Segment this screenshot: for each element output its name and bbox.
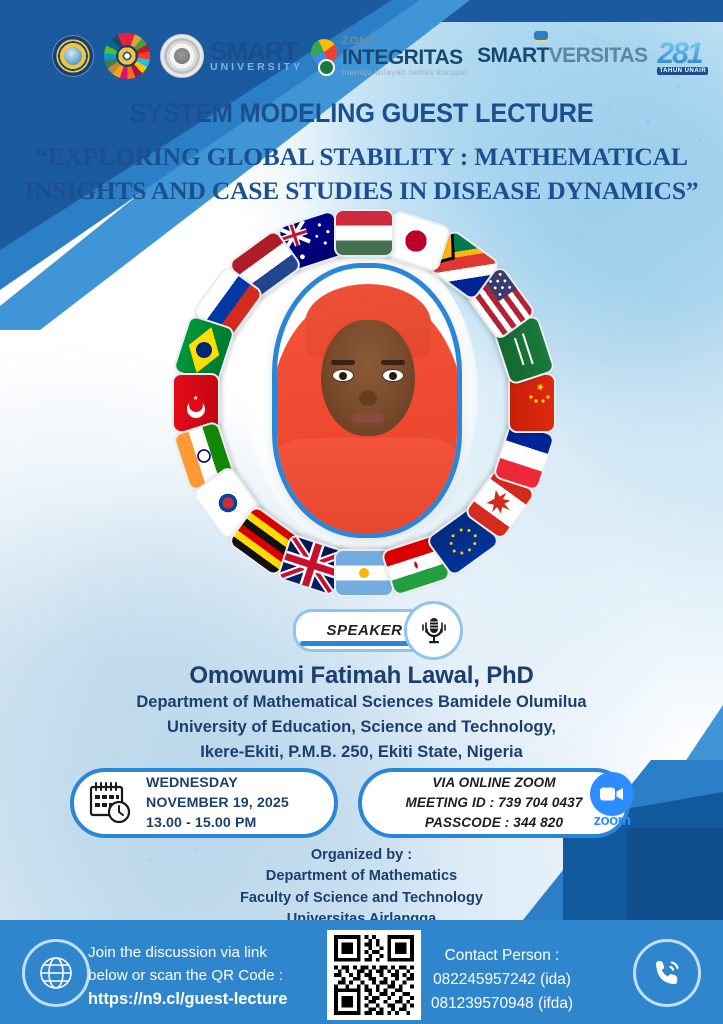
unair-seal-icon [52, 35, 94, 77]
zoom-camera-icon [590, 772, 634, 816]
microphone-icon [404, 601, 463, 660]
organizer-label: Organized by : [0, 845, 723, 866]
organizer-block: Organized by : Department of Mathematics… [0, 845, 723, 930]
join-instructions: Join the discussion via link below or sc… [88, 942, 287, 1012]
smartversitas-logo: SMARTVERSITAS [477, 44, 647, 68]
contact-label: Contact Person : [377, 944, 627, 968]
join-line-1: Join the discussion via link [88, 942, 287, 965]
flag-chair-ring [168, 205, 556, 593]
calendar-clock-icon [88, 780, 134, 826]
meeting-id: MEETING ID : 739 704 0437 [405, 793, 582, 813]
speaker-portrait-illustration [277, 268, 457, 533]
zoom-logo: zoom [582, 772, 642, 834]
zona-integritas-main: INTEGRITAS [342, 47, 467, 68]
unair-grey-seal-icon [160, 34, 204, 78]
poster-root: SMART UNIVERSITY ZONA INTEGRITAS menuju … [0, 0, 723, 1024]
affiliation-line-3: Ikere-Ekiti, P.M.B. 250, Ekiti State, Ni… [0, 740, 723, 765]
organizer-line-2: Faculty of Science and Technology [0, 888, 723, 909]
organizer-line-1: Department of Mathematics [0, 866, 723, 887]
online-meeting-text: VIA ONLINE ZOOM MEETING ID : 739 704 043… [405, 773, 582, 832]
schedule-date: NOVEMBER 19, 2025 [146, 793, 289, 813]
anniversary-sublabel: TAHUN UNAIR [657, 67, 708, 75]
flag-chair-hungary [334, 209, 394, 257]
zoom-label: zoom [582, 812, 642, 829]
subtitle-line-2: INSIGHTS AND CASE STUDIES IN DISEASE DYN… [0, 174, 723, 208]
speaker-affiliation: Department of Mathematical Sciences Bami… [0, 690, 723, 765]
smartversitas-label-b: VERSITAS [549, 44, 648, 67]
meeting-passcode: PASSCODE : 344 820 [405, 813, 582, 833]
schedule-time: 13.00 - 15.00 PM [146, 813, 289, 833]
page-subtitle: “EXPLORING GLOBAL STABILITY : MATHEMATIC… [0, 140, 723, 208]
contact-phone-1: 082245957242 (ida) [377, 968, 627, 992]
anniversary-281-logo: 281 TAHUN UNAIR [657, 37, 708, 75]
registration-link[interactable]: https://n9.cl/guest-lecture [88, 990, 287, 1008]
footer-bar: Join the discussion via link below or sc… [0, 920, 723, 1024]
join-line-2: below or scan the QR Code : [88, 965, 287, 988]
contact-phone-2: 081239570948 (ifda) [377, 992, 627, 1016]
zona-integritas-logo: ZONA INTEGRITAS menuju wilayah bebas kor… [311, 36, 467, 77]
schedule-text: WEDNESDAY NOVEMBER 19, 2025 13.00 - 15.0… [146, 773, 289, 833]
sdg-wheel-icon [104, 33, 150, 79]
schedule-card: WEDNESDAY NOVEMBER 19, 2025 13.00 - 15.0… [70, 768, 338, 838]
smart-university-sublabel: UNIVERSITY [210, 63, 303, 72]
anniversary-number: 281 [657, 37, 701, 70]
speaker-badge-label: SPEAKER [326, 622, 402, 639]
subtitle-line-1: “EXPLORING GLOBAL STABILITY : MATHEMATIC… [0, 140, 723, 174]
logo-bar: SMART UNIVERSITY ZONA INTEGRITAS menuju … [0, 24, 723, 88]
affiliation-line-2: University of Education, Science and Tec… [0, 715, 723, 740]
phone-call-icon [633, 939, 701, 1007]
speaker-name: Omowumi Fatimah Lawal, PhD [0, 662, 723, 690]
zona-integritas-tagline: menuju wilayah bebas korupsi [342, 68, 467, 77]
crown-icon [531, 29, 551, 42]
smart-university-logo: SMART UNIVERSITY [210, 40, 303, 73]
affiliation-line-1: Department of Mathematical Sciences Bami… [0, 690, 723, 715]
page-title: SYSTEM MODELING GUEST LECTURE [22, 98, 702, 129]
contact-block: Contact Person : 082245957242 (ida) 0812… [377, 944, 627, 1016]
smartversitas-label-a: SMART [477, 44, 549, 67]
online-heading: VIA ONLINE ZOOM [405, 773, 582, 793]
speaker-photo [272, 263, 462, 538]
location-pin-icon [311, 39, 337, 73]
schedule-day: WEDNESDAY [146, 773, 289, 793]
globe-icon [22, 939, 90, 1007]
